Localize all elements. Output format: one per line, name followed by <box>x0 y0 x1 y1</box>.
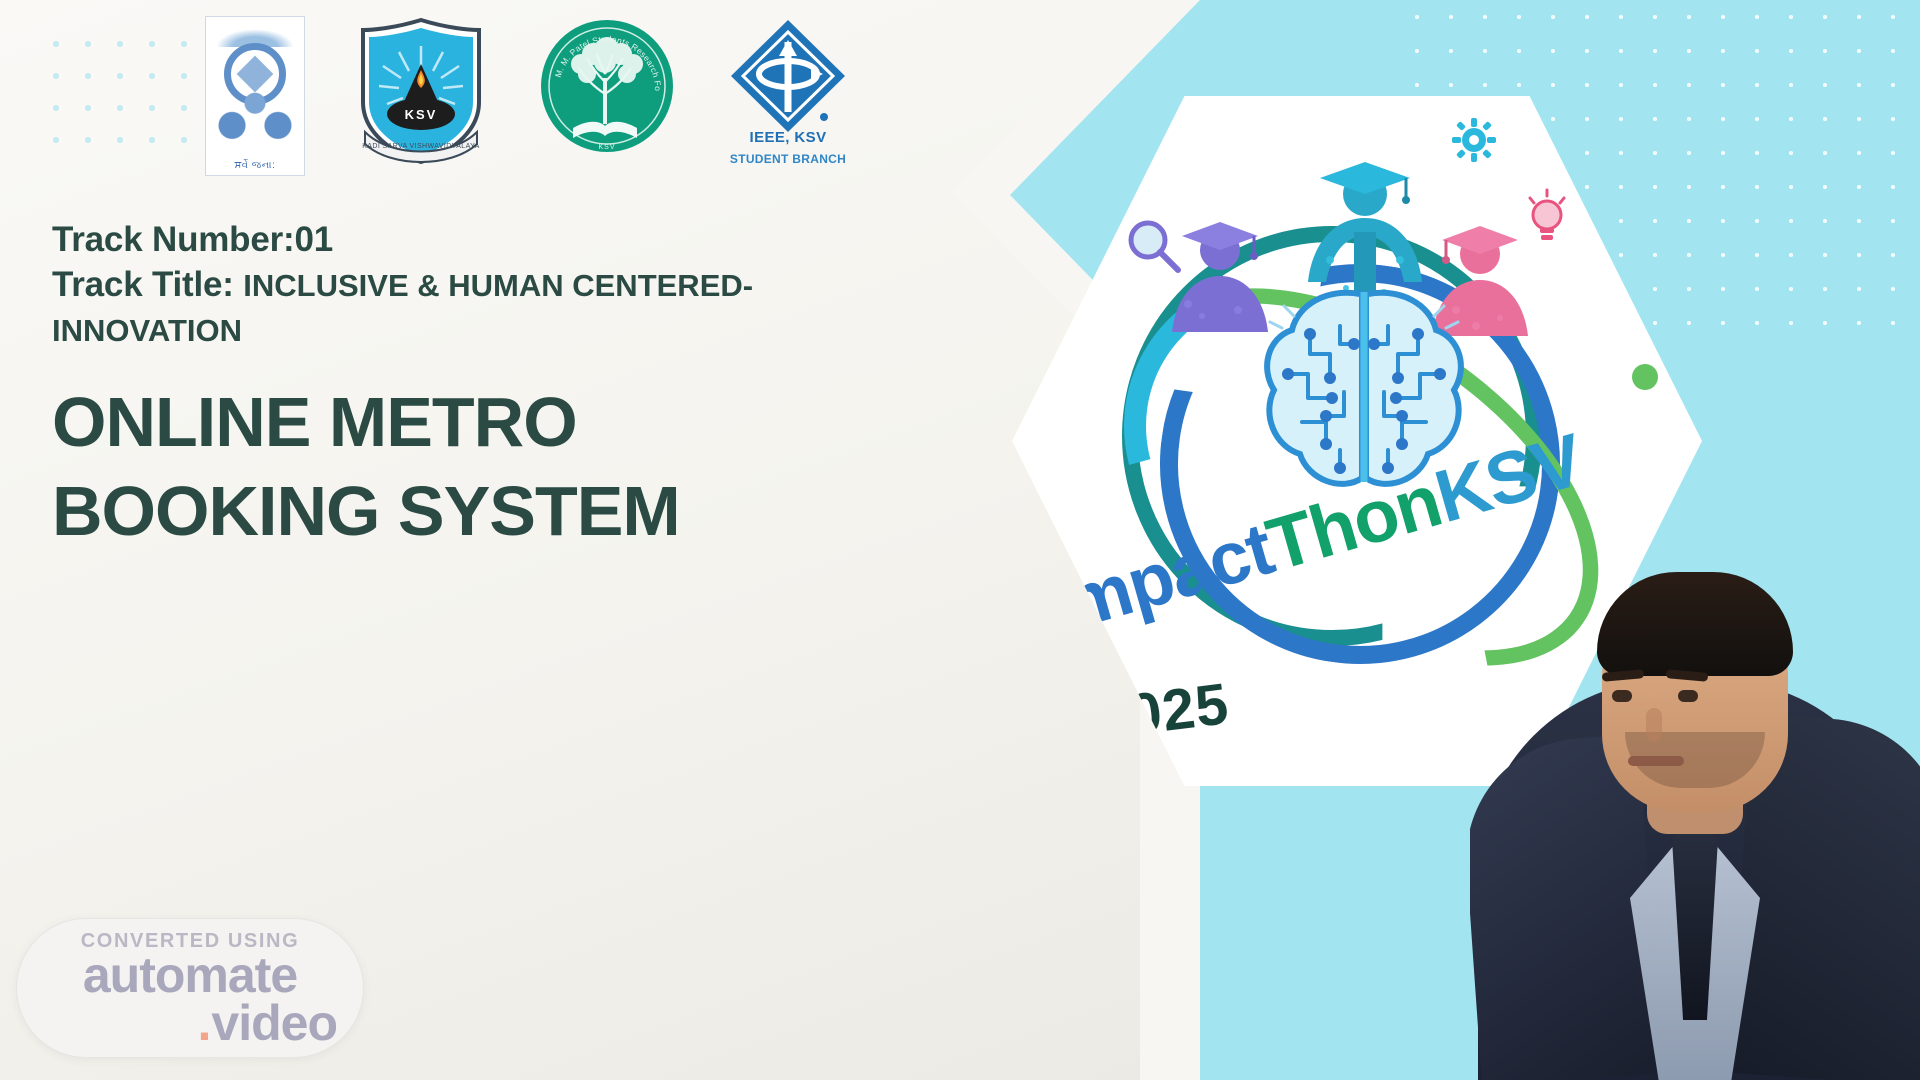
project-title-line-1: ONLINE METRO <box>52 378 932 467</box>
gear-icon <box>1452 118 1496 162</box>
gujarat-government-emblem-icon: ਸર્વે જના: <box>205 16 305 176</box>
track-number-line: Track Number:01 <box>52 218 932 263</box>
ieee-sublabel: STUDENT BRANCH <box>723 152 853 166</box>
research-foundation-icon: M. M. Patel Students Research Foundation <box>537 16 677 156</box>
track-title-line: Track Title: INCLUSIVE & HUMAN CENTERED-… <box>52 263 932 353</box>
institution-logo-strip: ਸર્વે જના: KSV KADI SAR <box>205 16 853 176</box>
svg-text:KADI SARVA VISHWAVIDYALAYA: KADI SARVA VISHWAVIDYALAYA <box>362 143 480 150</box>
track-number-label: Track Number: <box>52 220 295 259</box>
svg-text:KSV: KSV <box>405 107 438 122</box>
watermark-brand: automate <box>83 951 297 999</box>
presenter-avatar <box>1470 540 1920 1080</box>
watermark-domain: video <box>211 999 337 1047</box>
ieee-ksv-student-branch-icon: IEEE, KSV STUDENT BRANCH <box>723 16 853 176</box>
slide-text-block: Track Number:01 Track Title: INCLUSIVE &… <box>52 218 932 556</box>
watermark-dot: . <box>198 999 212 1047</box>
dot-pattern-top-left <box>40 28 190 158</box>
ieee-label: IEEE, KSV <box>723 129 853 146</box>
gujarat-emblem-script: ਸર્વે જના: <box>206 160 304 171</box>
track-title-label: Track Title: <box>52 265 234 304</box>
project-title: ONLINE METRO BOOKING SYSTEM <box>52 378 932 556</box>
presentation-slide: ਸર્વે જના: KSV KADI SAR <box>0 0 1920 1080</box>
ksv-shield-icon: KSV KADI SARVA VISHWAVIDYALAYA <box>351 16 491 166</box>
svg-text:KSV: KSV <box>598 144 615 151</box>
logo-swoosh-green-dot <box>1632 364 1658 390</box>
track-number-value: 01 <box>295 220 334 259</box>
converted-using-watermark: CONVERTED USING automate .video <box>16 918 364 1058</box>
project-title-line-2: BOOKING SYSTEM <box>52 467 932 556</box>
